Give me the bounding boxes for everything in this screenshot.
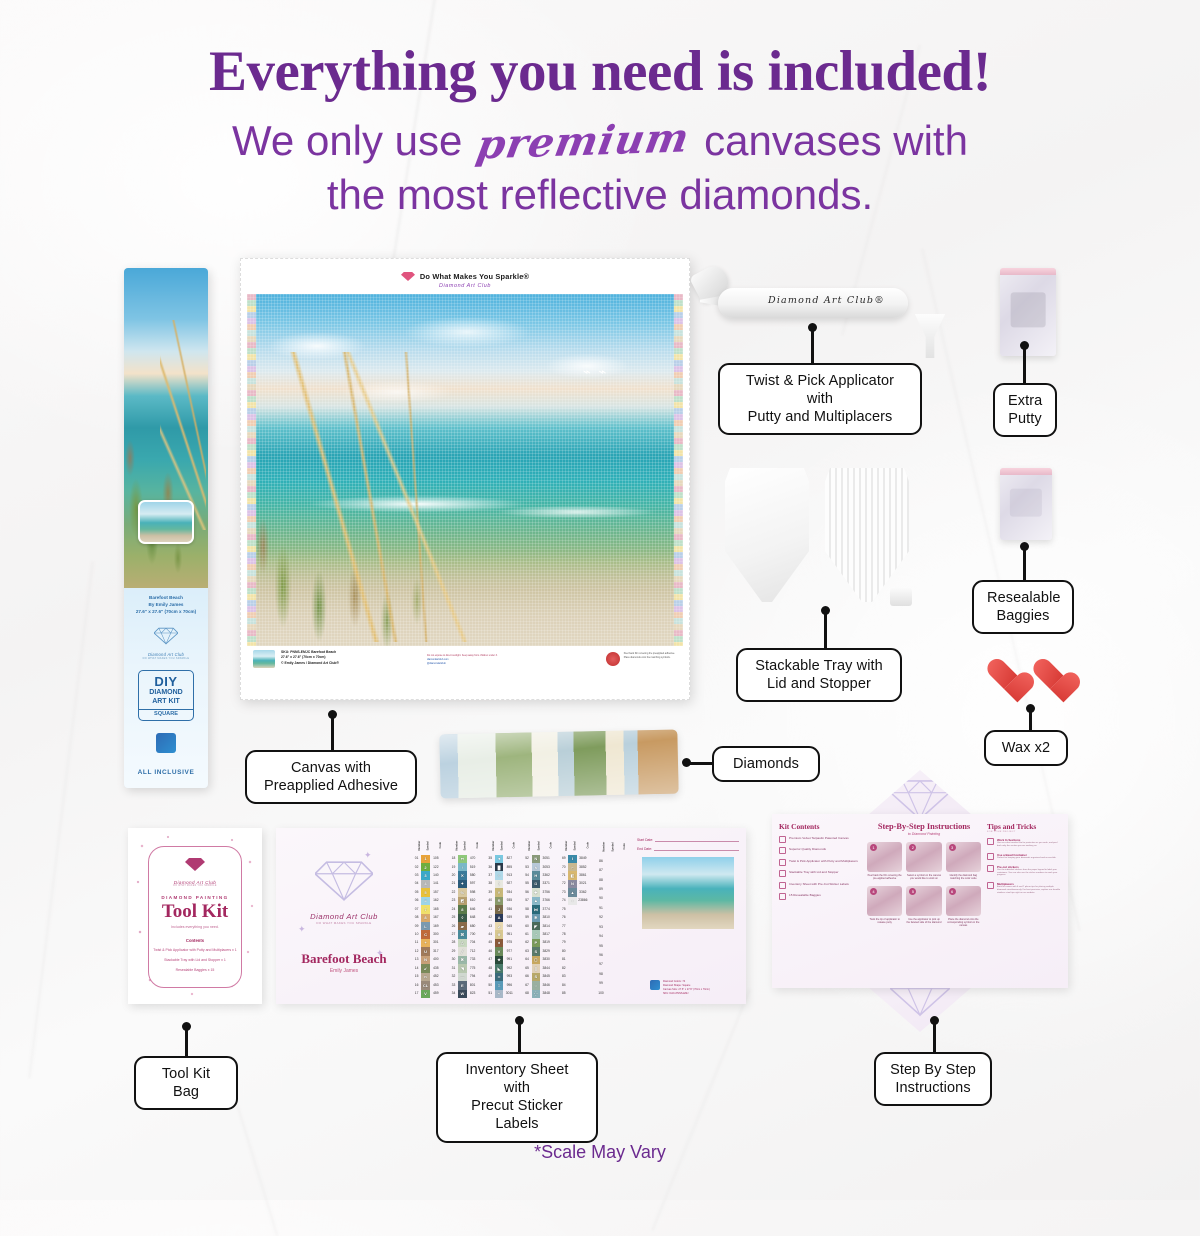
table-row: 73▲3362 bbox=[559, 888, 589, 896]
inventory-code: 3766 bbox=[540, 897, 552, 905]
inventory-number: 59 bbox=[522, 914, 531, 922]
inventory-symbol: W bbox=[458, 990, 466, 999]
inventory-number: 87 bbox=[596, 866, 606, 875]
table-row: 74•23866 bbox=[559, 897, 589, 905]
inventory-number: 04 bbox=[412, 880, 421, 888]
canvas-tube: Barefoot Beach By Emily James 27.6" x 27… bbox=[124, 268, 208, 788]
inventory-code: 993 bbox=[503, 973, 515, 981]
inventory-symbol: ⁘ bbox=[495, 871, 503, 879]
inventory-symbol bbox=[568, 939, 576, 947]
inventory-symbol: 8 bbox=[458, 905, 466, 913]
inventory-symbol: C bbox=[421, 930, 430, 938]
table-row: 47★991 bbox=[486, 956, 516, 964]
inventory-col-header: Number bbox=[486, 836, 495, 855]
inventory-col-header: Code bbox=[430, 836, 442, 855]
inventory-number: 50 bbox=[486, 981, 495, 989]
inventory-brand-script: Diamond Art Club bbox=[310, 912, 378, 921]
instruction-step: 3Identify the diamond bag matching the c… bbox=[946, 842, 981, 881]
step-caption: Twist the tip of applicator to release p… bbox=[867, 918, 902, 925]
inventory-code: 23866 bbox=[577, 897, 590, 905]
inventory-symbol: N bbox=[421, 956, 430, 964]
tip-body: Use the individual stickers from the pap… bbox=[997, 869, 1061, 878]
table-row: 48◣992 bbox=[486, 964, 516, 972]
inventory-code: 3814 bbox=[540, 922, 552, 930]
inventory-symbol bbox=[606, 941, 614, 950]
instruction-step: 6Place the diamond onto the correspondin… bbox=[946, 886, 981, 928]
inventory-code: 300 bbox=[430, 930, 442, 938]
inventory-number: 28 bbox=[449, 939, 458, 947]
inventory-col-header: Number bbox=[522, 836, 531, 855]
inventory-code: 951 bbox=[503, 930, 515, 938]
inventory-number: 54 bbox=[522, 871, 531, 879]
table-row: 87 bbox=[596, 866, 626, 875]
kit-contents-item: Stackable Tray with Lid and Stopper bbox=[779, 870, 861, 877]
inventory-symbol: Y bbox=[495, 888, 503, 896]
inventory-number: 36 bbox=[486, 863, 495, 871]
inventory-number: 82 bbox=[559, 964, 568, 972]
inventory-col-header: Code bbox=[540, 836, 552, 855]
inventory-number: 42 bbox=[486, 914, 495, 922]
inventory-number: 53 bbox=[522, 863, 531, 871]
page-subtitle: We only use premium canvases with the mo… bbox=[0, 114, 1200, 222]
steps-column: Step-By-Step Instructions to Diamond Pai… bbox=[867, 822, 981, 980]
tip-icon bbox=[987, 838, 994, 845]
canvas-footer: SKU: PNNS-EMJC Barefoot Beach 27.6" x 27… bbox=[247, 646, 683, 680]
tube-label: Barefoot Beach By Emily James 27.6" x 27… bbox=[124, 588, 208, 788]
inventory-code bbox=[614, 970, 626, 979]
kit-contents-item: Premium Velvet Tarpaulin Patented Canvas bbox=[779, 836, 861, 843]
inventory-code bbox=[577, 973, 590, 981]
callout-wax: Wax x2 bbox=[984, 730, 1068, 766]
inventory-number: 37 bbox=[486, 871, 495, 879]
kit-contents-text: Premium Velvet Tarpaulin Patented Canvas bbox=[789, 836, 849, 840]
inventory-code bbox=[577, 930, 590, 938]
step-photo: 2 bbox=[906, 842, 941, 872]
tip-icon bbox=[987, 865, 994, 872]
inventory-symbol: ✦ bbox=[458, 880, 466, 888]
inventory-code: 3011 bbox=[503, 990, 515, 999]
step-number: 2 bbox=[909, 844, 916, 851]
table-row: 64◻3830 bbox=[522, 956, 552, 964]
step-photo: 3 bbox=[946, 842, 981, 872]
kit-contents-heading: Kit Contents bbox=[779, 822, 861, 831]
step-photo: 4 bbox=[867, 886, 902, 916]
table-row: 49••993 bbox=[486, 973, 516, 981]
inventory-code: 162 bbox=[430, 897, 442, 905]
marble-vein bbox=[28, 562, 93, 1078]
inventory-symbol: ╱ bbox=[458, 947, 466, 955]
inventory-code bbox=[577, 947, 590, 955]
inventory-number: 46 bbox=[486, 947, 495, 955]
canvas-seal-block: Peel back film covering the preapplied a… bbox=[606, 652, 675, 666]
inventory-number: 05 bbox=[412, 888, 421, 896]
checklist-icon bbox=[779, 893, 786, 900]
diamond-icon bbox=[185, 857, 205, 872]
inventory-number: 24 bbox=[449, 905, 458, 913]
inventory-number: 73 bbox=[559, 888, 568, 896]
toolkit-content-item: Stackable Tray with Lid and Stopper x 1 bbox=[149, 958, 241, 963]
table-row: 94 bbox=[596, 932, 626, 941]
table-row: 86 bbox=[596, 857, 626, 866]
table-row: 93 bbox=[596, 923, 626, 932]
inventory-symbol: ◩ bbox=[458, 897, 466, 905]
inventory-code: 167 bbox=[430, 914, 442, 922]
inventory-code bbox=[577, 956, 590, 964]
inventory-number: 98 bbox=[596, 970, 606, 979]
canvas-artwork: ⌁ ⌁ bbox=[247, 294, 683, 646]
inventory-number: 20 bbox=[449, 871, 458, 879]
inventory-symbol: ⌐ bbox=[568, 863, 576, 871]
subtitle-script-premium: premium bbox=[469, 112, 698, 171]
table-row: 90 bbox=[596, 894, 626, 903]
tip-body: Perfect for keeping your diamonds organi… bbox=[997, 857, 1056, 860]
step-caption: Select a symbol on the canvas you would … bbox=[906, 874, 941, 881]
inventory-number: 93 bbox=[596, 923, 606, 932]
inventory-symbol: ✖ bbox=[458, 956, 466, 964]
table-row: 22%598 bbox=[449, 888, 479, 896]
table-row: 248646 bbox=[449, 905, 479, 913]
table-row: 088167 bbox=[412, 914, 442, 922]
table-row: 60◤3814 bbox=[522, 922, 552, 930]
inventory-code bbox=[614, 876, 626, 885]
inventory-code bbox=[614, 960, 626, 969]
inventory-number: 09 bbox=[412, 922, 421, 930]
table-row: 37⁘913 bbox=[486, 871, 516, 879]
inventory-col-header: Symbol bbox=[606, 836, 614, 857]
canvas-brand-script: Diamond Art Club bbox=[247, 283, 683, 289]
kit-contents-text: Stackable Tray with Lid and Stopper bbox=[789, 870, 839, 874]
table-row: 72N3021 bbox=[559, 880, 589, 888]
inventory-symbol bbox=[606, 932, 614, 941]
inventory-code: 317 bbox=[430, 947, 442, 955]
inventory-symbol: % bbox=[458, 888, 466, 896]
sparkle-icon: ✦ bbox=[376, 948, 384, 959]
subtitle-pre: We only use bbox=[232, 117, 462, 164]
table-row: 53∧3053 bbox=[522, 863, 552, 871]
table-row: 63S3829 bbox=[522, 947, 552, 955]
inventory-number: 100 bbox=[596, 989, 606, 998]
inventory-code: 3829 bbox=[540, 947, 552, 955]
inventory-code: 3845 bbox=[540, 973, 552, 981]
inventory-number: 41 bbox=[486, 905, 495, 913]
table-row: 20✕580 bbox=[449, 871, 479, 879]
inventory-col-header: Number bbox=[596, 836, 606, 857]
inventory-table: NumberSymbolCode011105022122033140044141… bbox=[412, 836, 442, 998]
callout-inventory-sheet: Inventory Sheet with Precut Sticker Labe… bbox=[436, 1052, 598, 1143]
tube-diy-l3: ART KIT bbox=[139, 697, 193, 706]
inventory-color-tables: NumberSymbolCode011105022122033140044141… bbox=[412, 828, 630, 1004]
tips-heading: Tips and Tricks bbox=[987, 822, 1061, 831]
inventory-number: 13 bbox=[412, 956, 421, 964]
inventory-code bbox=[614, 941, 626, 950]
inventory-symbol: ✳ bbox=[495, 930, 503, 938]
inventory-number: 81 bbox=[559, 956, 568, 964]
inventory-symbol: S bbox=[532, 947, 540, 955]
table-row: 77 bbox=[559, 922, 589, 930]
table-row: 82 bbox=[559, 964, 589, 972]
inventory-col-header: Symbol bbox=[421, 836, 430, 855]
toolkit-label: Diamond Art Club DO WHAT MAKES YOU SPARK… bbox=[148, 846, 242, 988]
inventory-number: 51 bbox=[486, 990, 495, 999]
checklist-icon bbox=[779, 847, 786, 854]
inventory-code bbox=[577, 990, 590, 999]
table-row: 88 bbox=[596, 876, 626, 885]
inventory-footer: Diamond Colors: 74 Diamond Shape: Square… bbox=[650, 980, 710, 996]
inventory-code: 991 bbox=[503, 956, 515, 964]
inventory-code: 3371 bbox=[540, 880, 552, 888]
start-date-field[interactable]: Start Date: bbox=[637, 837, 739, 842]
inventory-symbol bbox=[568, 956, 576, 964]
applicator-brand-text: Diamond Art Club® bbox=[768, 295, 885, 306]
inventory-number: 65 bbox=[522, 964, 531, 972]
inventory-number: 15 bbox=[412, 973, 421, 981]
baggie-label bbox=[1011, 293, 1046, 328]
callout-resealable-baggies: Resealable Baggies bbox=[972, 580, 1074, 634]
inventory-code: 301 bbox=[430, 939, 442, 947]
inventory-number: 55 bbox=[522, 880, 531, 888]
table-row: 84 bbox=[559, 981, 589, 989]
table-row: 30✖733 bbox=[449, 956, 479, 964]
table-row: 27⌘700 bbox=[449, 930, 479, 938]
inventory-sheet: ✦ ✦ ✦ Diamond Art Club DO WHAT MAKES YOU… bbox=[276, 828, 746, 1004]
callout-applicator: Twist & Pick Applicator with Putty and M… bbox=[718, 363, 922, 435]
table-row: 42A939 bbox=[486, 914, 516, 922]
step-photo: 1 bbox=[867, 842, 902, 872]
inventory-code bbox=[614, 857, 626, 866]
inventory-number: 16 bbox=[412, 981, 421, 989]
inventory-number: 06 bbox=[412, 897, 421, 905]
step-number: 4 bbox=[870, 888, 877, 895]
inventory-number: 99 bbox=[596, 979, 606, 988]
tip-icon bbox=[987, 882, 994, 889]
kit-contents-item: 15 Resealable Baggies bbox=[779, 893, 861, 900]
tips-list: Work In SectionsUse our color transfer f… bbox=[987, 838, 1061, 895]
table-row: 100 bbox=[596, 989, 626, 998]
step-caption: Identify the diamond bag matching the co… bbox=[946, 874, 981, 881]
inventory-symbol: ◧ bbox=[568, 871, 576, 879]
inventory-symbol: ◊ bbox=[458, 914, 466, 922]
inventory-number: 86 bbox=[596, 857, 606, 866]
step-photo: 6 bbox=[946, 886, 981, 916]
inventory-code: 700 bbox=[467, 930, 479, 938]
inventory-symbol bbox=[606, 904, 614, 913]
table-row: 40R935 bbox=[486, 897, 516, 905]
inventory-symbol: ⊿ bbox=[495, 922, 503, 930]
toolkit-tagline: Includes everything you need. bbox=[149, 925, 241, 929]
inventory-code: 895 bbox=[503, 863, 515, 871]
inventory-symbol bbox=[606, 876, 614, 885]
table-row: 43⊿945 bbox=[486, 922, 516, 930]
table-row: 23◩610 bbox=[449, 897, 479, 905]
inventory-number: 75 bbox=[559, 905, 568, 913]
inventory-symbol bbox=[568, 914, 576, 922]
marble-vein bbox=[651, 989, 750, 1231]
inventory-symbol: L bbox=[421, 922, 430, 930]
inventory-number: 68 bbox=[522, 990, 531, 999]
sparkle-icon: ✦ bbox=[298, 924, 306, 935]
inventory-col-header: Code bbox=[614, 836, 626, 857]
inventory-symbol bbox=[568, 947, 576, 955]
inventory-symbol: P bbox=[532, 939, 540, 947]
inventory-symbol: ✕ bbox=[458, 871, 466, 879]
table-row: 54H3362 bbox=[522, 871, 552, 879]
inventory-number: 26 bbox=[449, 922, 458, 930]
inventory-number: 31 bbox=[449, 964, 458, 972]
inventory-symbol bbox=[606, 923, 614, 932]
inventory-symbol: N bbox=[532, 855, 540, 863]
table-row: 65∥3844 bbox=[522, 964, 552, 972]
inventory-symbol: V bbox=[421, 990, 430, 999]
table-row: 17V459 bbox=[412, 990, 442, 999]
inventory-symbol: ⟩ bbox=[495, 880, 503, 888]
table-row: 55◘3371 bbox=[522, 880, 552, 888]
toolkit-eyebrow: DIAMOND PAINTING bbox=[149, 895, 241, 900]
tray-stopper bbox=[890, 588, 912, 606]
step-photo: 5 bbox=[906, 886, 941, 916]
inventory-code: 3362 bbox=[540, 871, 552, 879]
inventory-symbol bbox=[568, 964, 576, 972]
inventory-code bbox=[614, 923, 626, 932]
table-row: 16CL453 bbox=[412, 981, 442, 989]
inventory-code: 459 bbox=[430, 990, 442, 999]
inventory-number: 30 bbox=[449, 956, 458, 964]
inventory-symbol: n bbox=[421, 973, 430, 981]
table-row: 75 bbox=[559, 905, 589, 913]
table-row: 57▲3766 bbox=[522, 897, 552, 905]
canvas-mini-step2: Place diamonds onto the matching symbols… bbox=[624, 656, 675, 660]
inventory-code: 435 bbox=[430, 964, 442, 972]
inventory-symbol: ◥ bbox=[458, 964, 466, 972]
callout-instructions: Step By Step Instructions bbox=[874, 1052, 992, 1106]
inventory-number: 10 bbox=[412, 930, 421, 938]
table-row: 25◊648 bbox=[449, 914, 479, 922]
callout-resealable-baggies-label: Resealable Baggies bbox=[972, 580, 1074, 634]
callout-extra-putty: Extra Putty bbox=[993, 383, 1057, 437]
table-row: 69I3849 bbox=[559, 855, 589, 863]
inventory-number: 39 bbox=[486, 888, 495, 896]
table-row: 44✳951 bbox=[486, 930, 516, 938]
inventory-symbol: J bbox=[495, 905, 503, 913]
scale-note: *Scale May Vary bbox=[0, 1142, 1200, 1163]
inventory-symbol: H bbox=[532, 871, 540, 879]
tip-item: Use a Bead ContainerPerfect for keeping … bbox=[987, 853, 1061, 860]
table-row: 28△704 bbox=[449, 939, 479, 947]
tube-shape: SQUARE bbox=[139, 709, 193, 718]
inventory-number: 43 bbox=[486, 922, 495, 930]
inventory-table: NumberSymbolCode86 87 88 89 90 91 92 93 … bbox=[596, 836, 626, 998]
table-row: 81 bbox=[559, 956, 589, 964]
tip-item: Pre-cut stickersUse the individual stick… bbox=[987, 865, 1061, 878]
inventory-code: 610 bbox=[467, 897, 479, 905]
quality-seal-icon bbox=[606, 652, 620, 666]
artwork-oat-stalks bbox=[277, 352, 467, 642]
table-row: 15n452 bbox=[412, 973, 442, 981]
toolkit-brand-tagline: DO WHAT MAKES YOU SPARKLE bbox=[149, 885, 241, 887]
inventory-code: 470 bbox=[467, 855, 479, 863]
end-date-field[interactable]: End Date: bbox=[637, 846, 739, 851]
tube-all-inclusive: ALL INCLUSIVE bbox=[124, 769, 208, 776]
inventory-symbol bbox=[606, 951, 614, 960]
inventory-table: NumberSymbolCode35◄82736█89537⁘91338⟩927… bbox=[486, 836, 516, 998]
canvas-social: @diamondartclub bbox=[427, 662, 498, 666]
table-row: 055157 bbox=[412, 888, 442, 896]
inventory-symbol bbox=[568, 930, 576, 938]
callout-diamonds: Diamonds bbox=[712, 746, 820, 782]
color-key-strip-left bbox=[247, 294, 256, 646]
inventory-symbol: ★ bbox=[495, 956, 503, 964]
table-row: 033140 bbox=[412, 871, 442, 879]
kit-contents-item: Superior Quality Diamonds bbox=[779, 847, 861, 854]
table-row: 33E801 bbox=[449, 981, 479, 989]
kit-contents-text: Twist & Pick Applicator with Putty and M… bbox=[789, 859, 858, 863]
checklist-icon bbox=[779, 870, 786, 877]
table-row: 41J936 bbox=[486, 905, 516, 913]
inventory-number: 95 bbox=[596, 941, 606, 950]
table-row: 06=162 bbox=[412, 897, 442, 905]
inventory-symbol: ♠ bbox=[495, 939, 503, 947]
inventory-code bbox=[614, 979, 626, 988]
table-row: 79 bbox=[559, 939, 589, 947]
table-row: 32—794 bbox=[449, 973, 479, 981]
tube-brand-tagline: DO WHAT MAKES YOU SPARKLE bbox=[124, 657, 208, 660]
inventory-number: 25 bbox=[449, 914, 458, 922]
inventory-number: 97 bbox=[596, 960, 606, 969]
inventory-symbol: 5 bbox=[421, 888, 430, 896]
callout-canvas: Canvas with Preapplied Adhesive bbox=[245, 750, 417, 804]
inventory-symbol bbox=[606, 913, 614, 922]
checklist-icon bbox=[779, 836, 786, 843]
inventory-code: 936 bbox=[503, 905, 515, 913]
inventory-code: 827 bbox=[503, 855, 515, 863]
callout-wax-label: Wax x2 bbox=[984, 730, 1068, 766]
inventory-number: 49 bbox=[486, 973, 495, 981]
instruction-step: 4Twist the tip of applicator to release … bbox=[867, 886, 902, 928]
inventory-code: 945 bbox=[503, 922, 515, 930]
inventory-symbol: N bbox=[568, 880, 576, 888]
tube-diy-text: DIY bbox=[139, 675, 193, 688]
inventory-symbol: • bbox=[568, 897, 576, 905]
inventory-number: 07 bbox=[412, 905, 421, 913]
table-row: 077165 bbox=[412, 905, 442, 913]
tip-item: MultiplacersEach kit comes with 4 and 7 … bbox=[987, 882, 1061, 895]
inventory-code bbox=[577, 914, 590, 922]
inventory-number: 79 bbox=[559, 939, 568, 947]
inventory-artist: Emily James bbox=[330, 968, 358, 974]
inventory-number: 77 bbox=[559, 922, 568, 930]
inventory-number: 14 bbox=[412, 964, 421, 972]
inventory-symbol bbox=[606, 989, 614, 998]
table-row: 85 bbox=[559, 990, 589, 999]
inventory-code bbox=[614, 904, 626, 913]
toolkit-content-item: Twist & Pick Applicator with Putty and M… bbox=[149, 948, 241, 953]
inventory-symbol: U bbox=[421, 947, 430, 955]
table-row: 68⁛3848 bbox=[522, 990, 552, 999]
canvas-instructions-mini: Peel back film covering the preapplied a… bbox=[624, 652, 675, 660]
inventory-code: 3819 bbox=[540, 939, 552, 947]
inventory-code: 3852 bbox=[577, 863, 590, 871]
inventory-code: 680 bbox=[467, 922, 479, 930]
inventory-code: 935 bbox=[503, 897, 515, 905]
inventory-code bbox=[614, 894, 626, 903]
inventory-number: 38 bbox=[486, 880, 495, 888]
inventory-code: 3362 bbox=[577, 888, 590, 896]
table-row: 58⋈3774 bbox=[522, 905, 552, 913]
tube-size: 27.6" x 27.6" (70cm x 70cm) bbox=[124, 609, 208, 616]
inventory-code: 775 bbox=[467, 964, 479, 972]
inventory-col-header: Symbol bbox=[495, 836, 503, 855]
artwork-birds: ⌁ ⌁ bbox=[583, 364, 643, 398]
instruction-step: 2Select a symbol on the canvas you would… bbox=[906, 842, 941, 881]
